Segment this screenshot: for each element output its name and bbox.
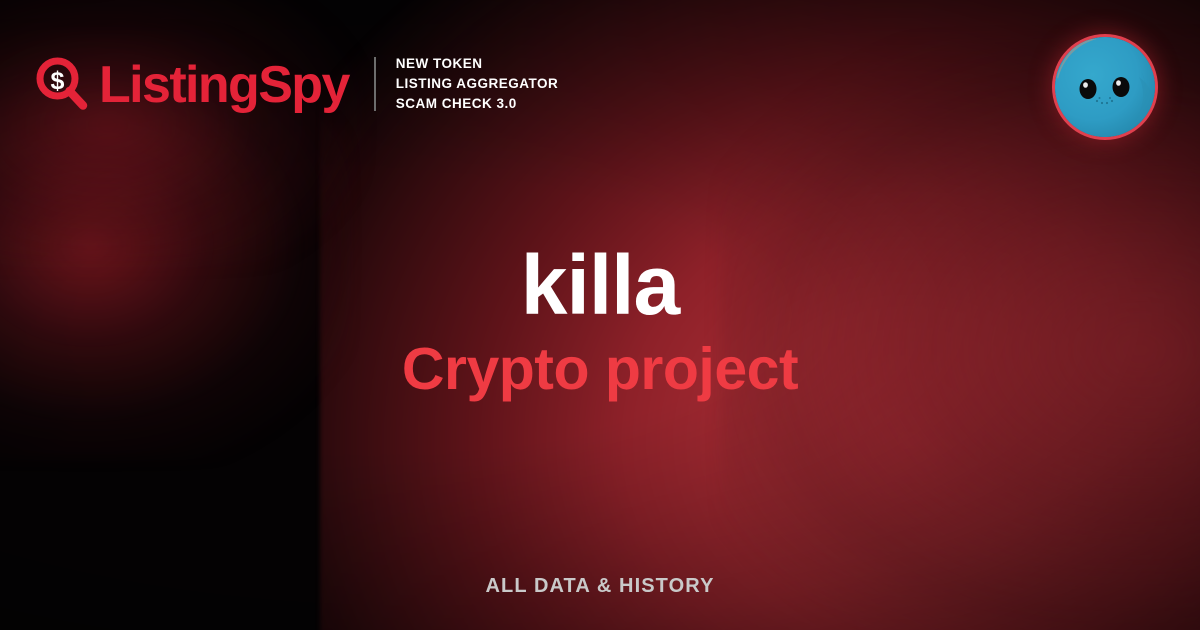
main-content: killa Crypto project bbox=[0, 243, 1200, 401]
share-card: $ ListingSpy NEW TOKEN LISTING AGGREGATO… bbox=[0, 0, 1200, 630]
svg-text:$: $ bbox=[51, 67, 65, 95]
token-avatar-blue-blob-icon bbox=[1055, 37, 1155, 137]
header: $ ListingSpy NEW TOKEN LISTING AGGREGATO… bbox=[34, 54, 558, 114]
tagline-line-1: NEW TOKEN bbox=[396, 54, 559, 74]
magnifier-dollar-icon: $ bbox=[34, 56, 90, 112]
tagline-line-3: SCAM CHECK 3.0 bbox=[396, 94, 559, 114]
footer: ALL DATA & HISTORY bbox=[0, 575, 1200, 598]
token-title: killa bbox=[0, 243, 1200, 327]
token-avatar[interactable] bbox=[1055, 37, 1155, 137]
footer-caption: ALL DATA & HISTORY bbox=[485, 575, 714, 597]
brand-wordmark: ListingSpy bbox=[99, 59, 349, 111]
background-glow-logo bbox=[0, 0, 360, 260]
brand-logo[interactable]: $ ListingSpy bbox=[34, 56, 349, 112]
token-subtitle: Crypto project bbox=[0, 339, 1200, 401]
tagline-line-2: LISTING AGGREGATOR bbox=[396, 74, 559, 94]
header-divider bbox=[374, 57, 376, 111]
brand-tagline: NEW TOKEN LISTING AGGREGATOR SCAM CHECK … bbox=[396, 54, 559, 114]
